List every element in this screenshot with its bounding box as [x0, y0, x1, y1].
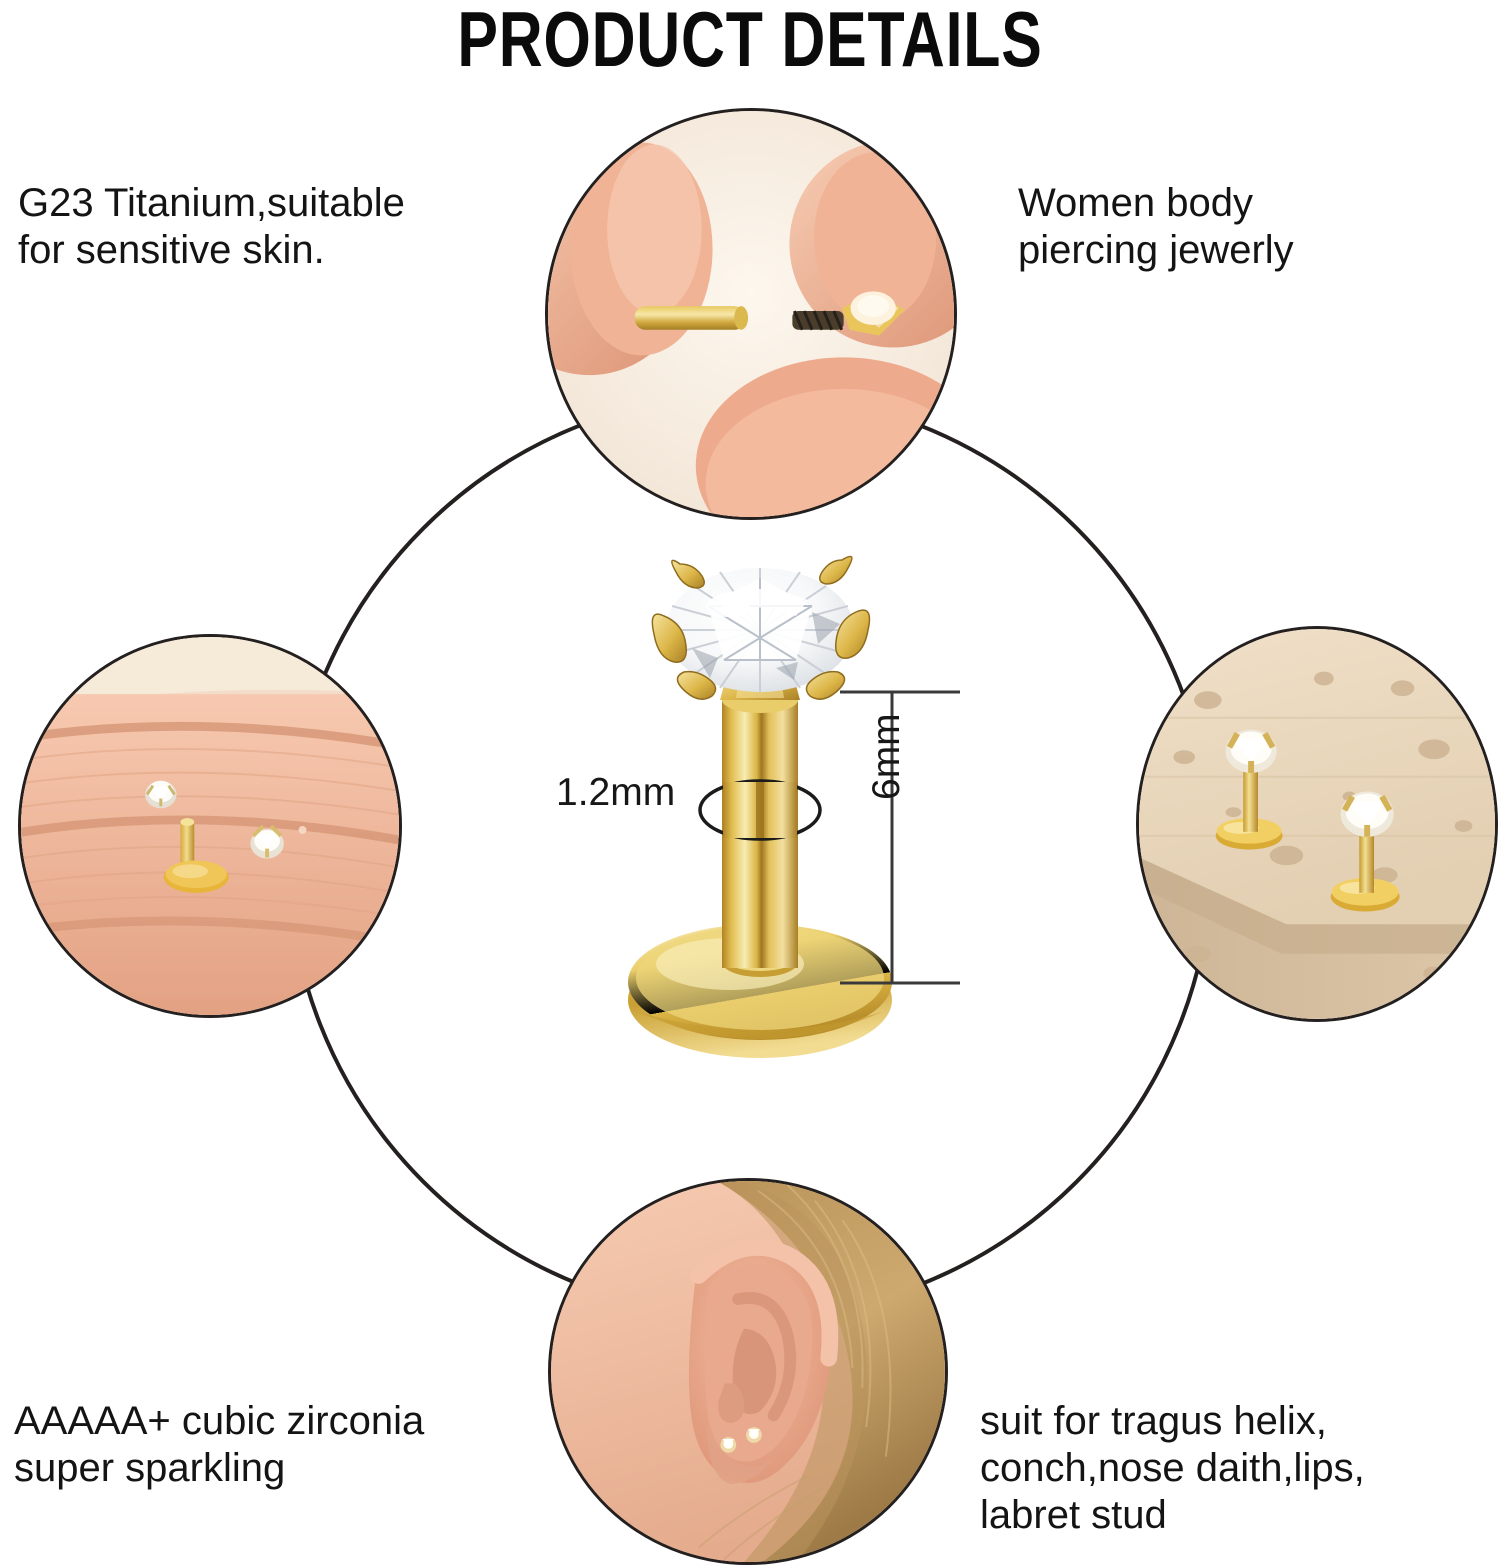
length-label: 6mm	[865, 713, 909, 800]
caption-category: Women body piercing jewerly	[1018, 180, 1294, 274]
gauge-label: 1.2mm	[556, 771, 675, 815]
infographic-stage: PRODUCT DETAILS	[0, 0, 1500, 1565]
caption-stone: AAAAA+ cubic zirconia super sparkling	[14, 1398, 424, 1492]
caption-placements: suit for tragus helix, conch,nose daith,…	[980, 1398, 1365, 1540]
caption-material: G23 Titanium,suitable for sensitive skin…	[18, 180, 405, 274]
